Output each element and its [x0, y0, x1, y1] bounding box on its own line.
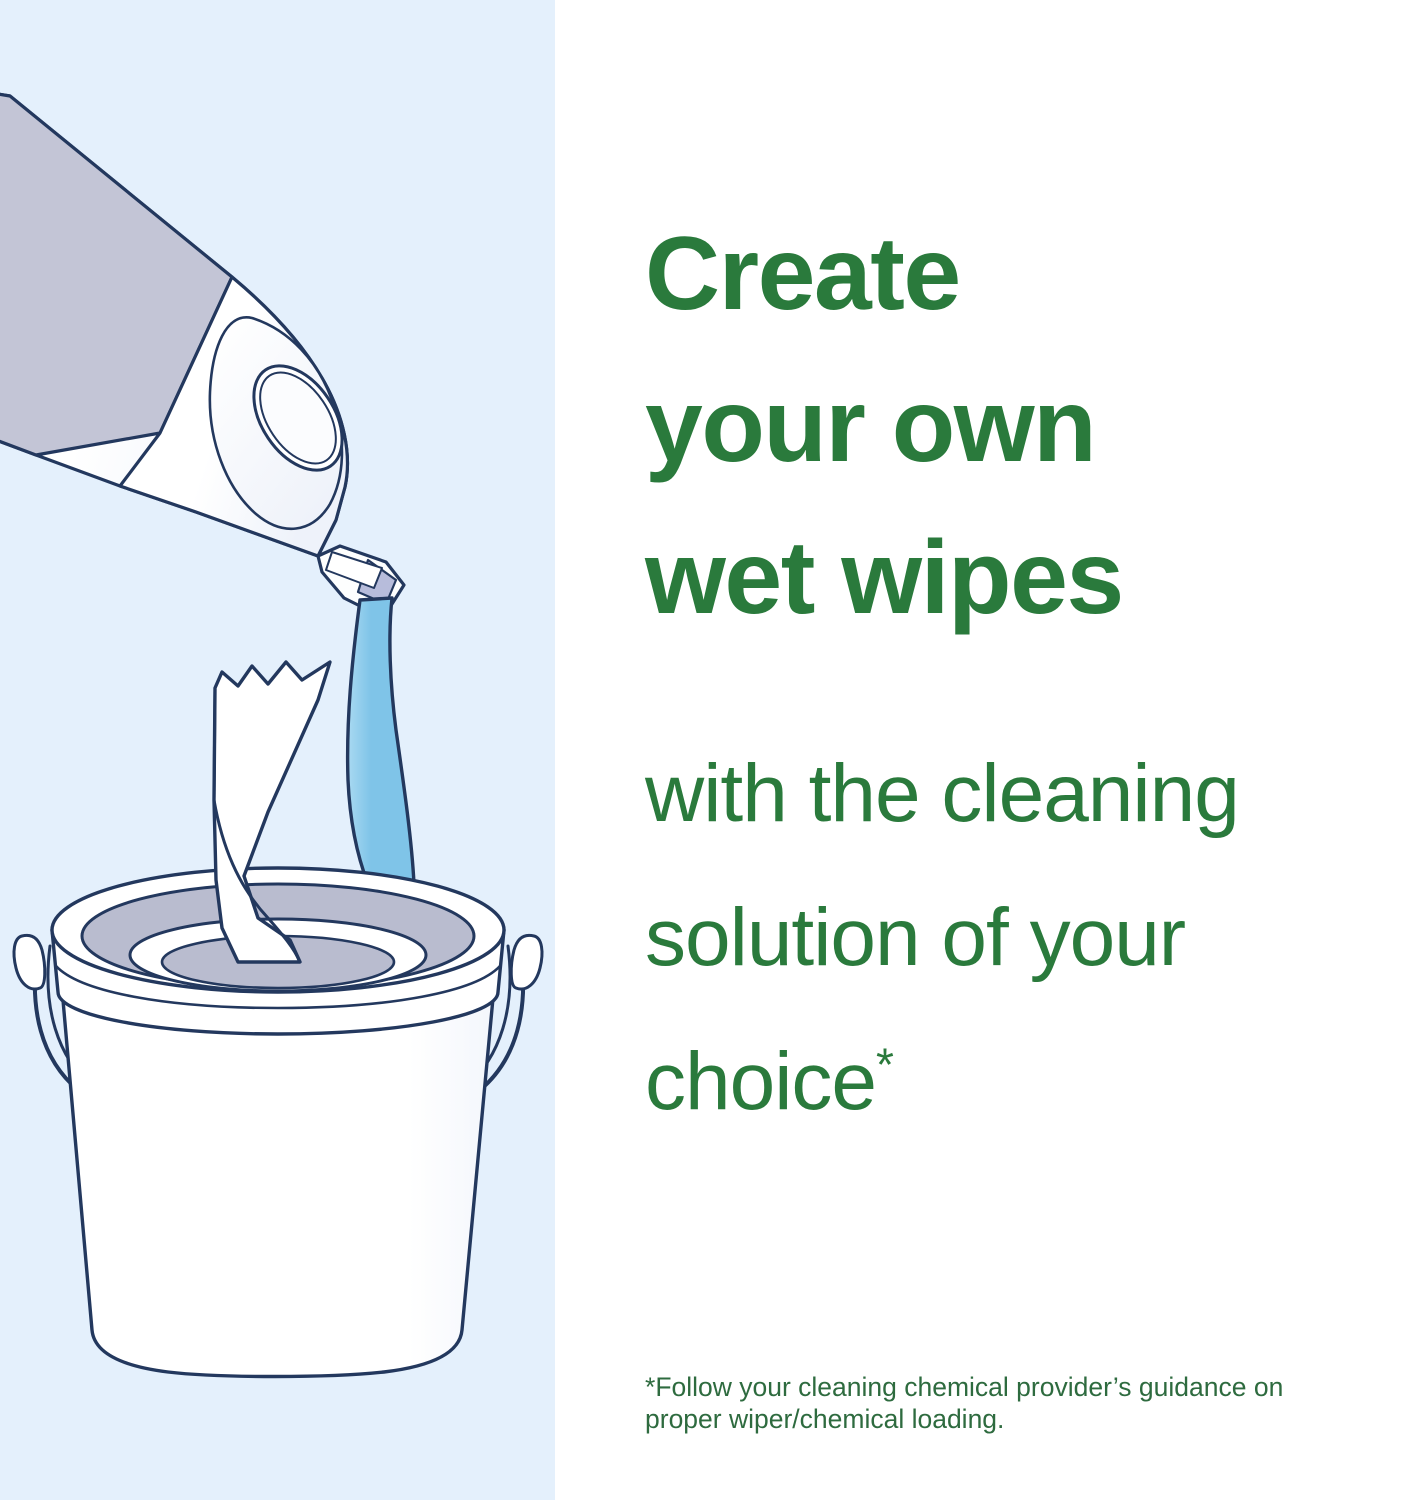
- poster-canvas: Create your own wet wipes with the clean…: [0, 0, 1421, 1500]
- subheadline-text: with the cleaning solution of your choic…: [645, 748, 1239, 1127]
- footnote-marker: *: [876, 1039, 893, 1091]
- illustration-panel: [0, 0, 555, 1500]
- copy-column: Create your own wet wipes with the clean…: [645, 0, 1421, 1500]
- pouring-solution-illustration: [0, 0, 555, 1500]
- footnote-disclaimer: *Follow your cleaning chemical provider’…: [645, 1371, 1421, 1435]
- subheadline: with the cleaning solution of your choic…: [645, 578, 1421, 1154]
- wiper-sheet-left-crease: [214, 690, 215, 800]
